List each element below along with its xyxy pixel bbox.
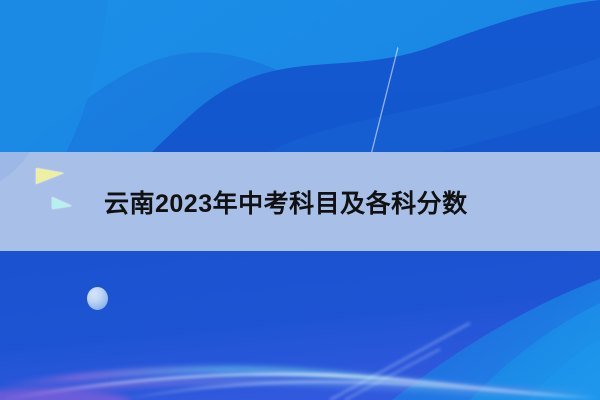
banner-title-band: 云南2023年中考科目及各科分数 <box>0 152 600 251</box>
page-title: 云南2023年中考科目及各科分数 <box>104 184 468 220</box>
bottom-aurora-graphic <box>0 251 600 400</box>
decorative-article-banner: 云南2023年中考科目及各科分数 <box>0 0 600 400</box>
cyan-triangle-icon <box>52 197 72 209</box>
lime-triangle-icon <box>36 168 64 184</box>
top-wave-graphic <box>0 0 600 152</box>
banner-bottom-section <box>0 251 600 400</box>
light-sphere-icon <box>87 287 108 310</box>
banner-top-section <box>0 0 600 152</box>
